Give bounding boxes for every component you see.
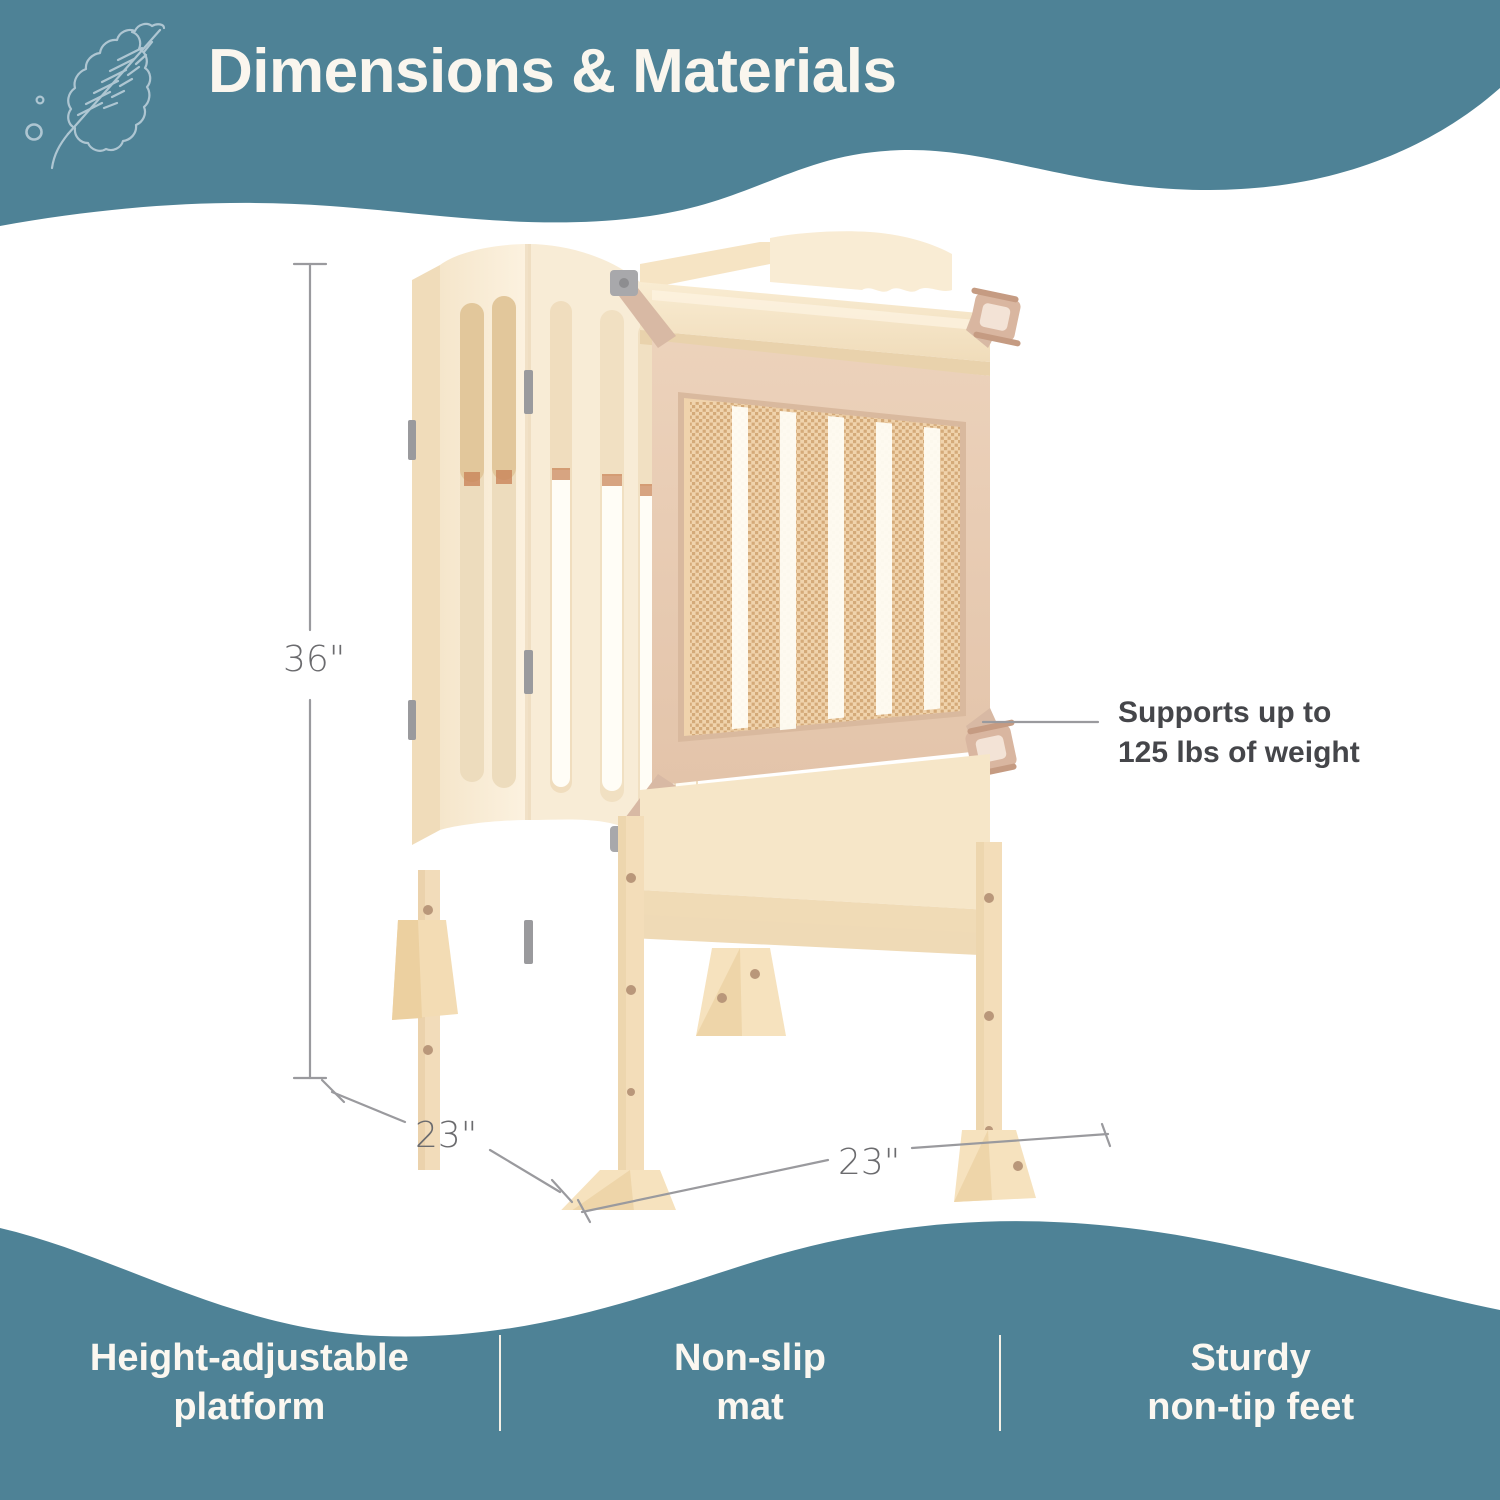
feature-line-1: Sturdy bbox=[1011, 1334, 1490, 1383]
header-band bbox=[0, 0, 1500, 230]
feature-list: Height-adjustable platform Non-slip mat … bbox=[0, 1318, 1500, 1448]
dimension-width-label: 23" bbox=[838, 1142, 900, 1183]
callout-line-1: Supports up to bbox=[1118, 693, 1360, 733]
feature-item-non-tip-feet: Sturdy non-tip feet bbox=[1001, 1334, 1500, 1431]
feather-icon bbox=[14, 22, 174, 172]
product-illustration bbox=[300, 230, 1060, 1210]
non-tip-foot-back-left bbox=[392, 920, 458, 1020]
weight-capacity-callout: Supports up to 125 lbs of weight bbox=[1118, 693, 1360, 773]
feature-item-non-slip-mat: Non-slip mat bbox=[501, 1334, 1000, 1431]
dimension-height-label: 36" bbox=[283, 639, 345, 680]
dimension-depth-label: 23" bbox=[415, 1115, 477, 1156]
feature-line-2: platform bbox=[10, 1383, 489, 1432]
non-tip-foot-center bbox=[696, 948, 786, 1036]
feature-item-height-adjustable: Height-adjustable platform bbox=[0, 1334, 499, 1431]
infographic-page: Dimensions & Materials bbox=[0, 0, 1500, 1500]
callout-line-2: 125 lbs of weight bbox=[1118, 733, 1360, 773]
feature-line-2: non-tip feet bbox=[1011, 1383, 1490, 1432]
page-title: Dimensions & Materials bbox=[208, 36, 896, 107]
feature-line-2: mat bbox=[511, 1383, 990, 1432]
feature-line-1: Height-adjustable bbox=[10, 1334, 489, 1383]
feature-line-1: Non-slip bbox=[511, 1334, 990, 1383]
